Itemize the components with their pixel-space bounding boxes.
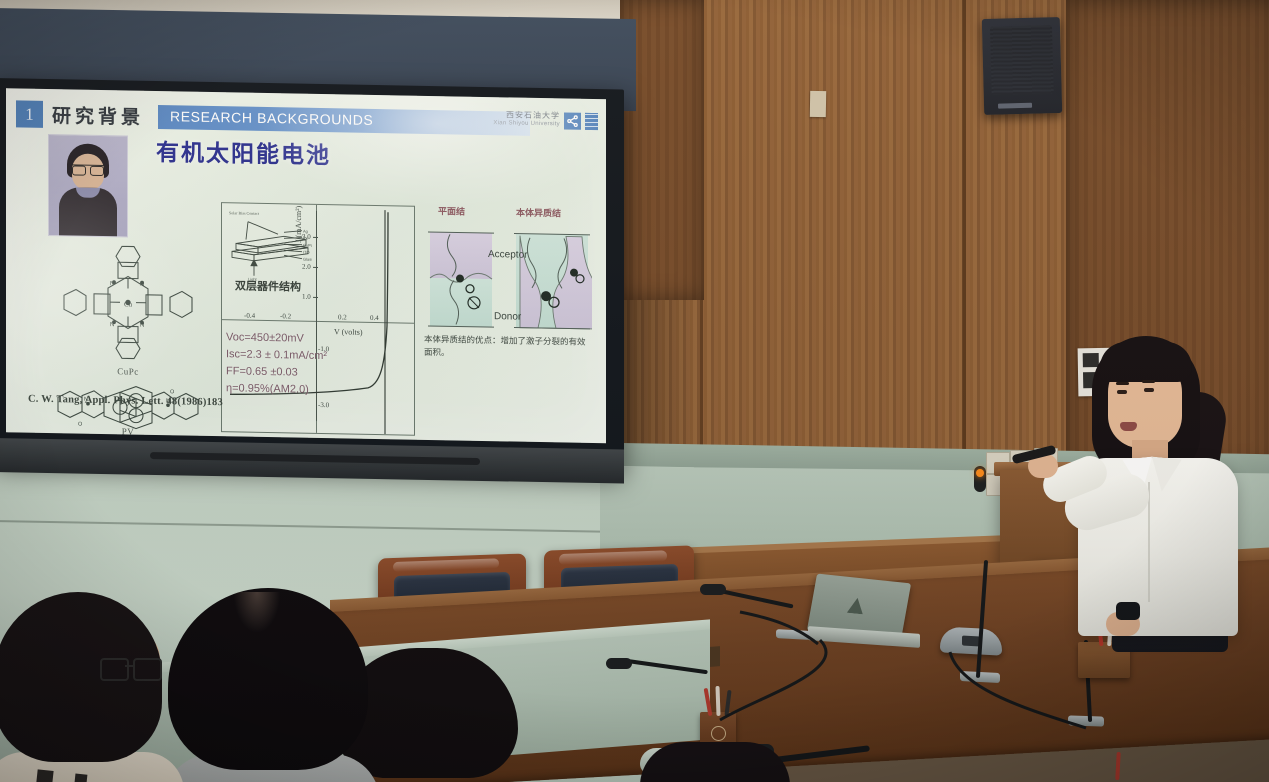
glasses-lens bbox=[133, 658, 162, 681]
presenter-eye bbox=[1144, 388, 1154, 392]
slide-heading: 有机太阳能电池 bbox=[156, 133, 331, 170]
bulk-heterojunction-label: 本体异质结 bbox=[516, 206, 561, 220]
conference-room-scene: 1 研究背景 RESEARCH BACKGROUNDS 西安石油大学 Xian … bbox=[0, 0, 1269, 782]
param-ff: FF=0.65 ±0.03 bbox=[226, 363, 327, 382]
presenter-brow bbox=[1142, 380, 1155, 383]
jv-chart-panel: Solar Bias Contact bbox=[221, 202, 415, 436]
svg-text:N: N bbox=[140, 323, 144, 329]
jv-curve bbox=[222, 203, 414, 435]
researcher-portrait bbox=[48, 134, 128, 237]
presenter-brow bbox=[1116, 382, 1129, 385]
heterojunction-note: 本体异质结的优点：增加了激子分裂的有效面积。 bbox=[424, 334, 592, 363]
audience-hair-part bbox=[234, 592, 280, 632]
university-name-en: Xian Shiyou University bbox=[493, 120, 560, 128]
projection-screen: 1 研究背景 RESEARCH BACKGROUNDS 西安石油大学 Xian … bbox=[0, 78, 624, 472]
param-voc: Voc=450±20mV bbox=[226, 329, 327, 348]
param-isc: Isc=2.3 ± 0.1mA/cm² bbox=[226, 346, 327, 365]
svg-text:N: N bbox=[140, 282, 144, 288]
microphone-head[interactable] bbox=[974, 466, 986, 492]
wall-speaker bbox=[982, 17, 1062, 115]
presentation-slide: 1 研究背景 RESEARCH BACKGROUNDS 西安石油大学 Xian … bbox=[6, 88, 606, 443]
audience-hair bbox=[640, 742, 790, 782]
speaker-grill bbox=[990, 25, 1054, 95]
share-node-icon bbox=[564, 112, 581, 129]
glasses-icon bbox=[100, 658, 158, 678]
speaker-badge bbox=[998, 103, 1032, 109]
presenter-eye bbox=[1117, 390, 1127, 394]
svg-text:Acceptor: Acceptor bbox=[488, 249, 528, 261]
planar-junction-label: 平面结 bbox=[438, 204, 465, 217]
svg-text:Donor: Donor bbox=[494, 311, 522, 323]
svg-text:N: N bbox=[110, 281, 114, 287]
microphone-head[interactable] bbox=[606, 658, 632, 669]
heterojunction-illustration: Acceptor Donor bbox=[424, 222, 592, 353]
param-efficiency: η=0.95%(AM2.0) bbox=[226, 380, 327, 399]
molecule-label-pv: PV bbox=[42, 425, 214, 438]
audience-member bbox=[640, 742, 790, 782]
audience-member bbox=[0, 592, 184, 782]
presenter bbox=[1020, 330, 1269, 630]
glasses-bridge bbox=[125, 665, 133, 667]
presenter-fringe bbox=[1100, 342, 1192, 382]
university-logo-text: 西安石油大学 Xian Shiyou University bbox=[493, 111, 560, 128]
slide-section-title-cn: 研究背景 bbox=[52, 101, 144, 130]
glasses-lens bbox=[100, 658, 129, 681]
audience-member bbox=[168, 588, 378, 782]
svg-text:N: N bbox=[110, 322, 114, 328]
svg-text:O: O bbox=[170, 389, 175, 395]
svg-text:Cu: Cu bbox=[124, 300, 133, 308]
slide-section-number: 1 bbox=[16, 100, 43, 127]
glasses-icon bbox=[72, 164, 104, 174]
logo-bars-icon bbox=[585, 113, 598, 130]
slide-section-title-en: RESEARCH BACKGROUNDS bbox=[170, 108, 373, 128]
wristwatch bbox=[1116, 602, 1140, 620]
slide-section-banner: RESEARCH BACKGROUNDS bbox=[158, 105, 530, 136]
university-logo: 西安石油大学 Xian Shiyou University bbox=[493, 111, 598, 130]
device-parameters: Voc=450±20mV Isc=2.3 ± 0.1mA/cm² FF=0.65… bbox=[226, 329, 327, 399]
presenter-mouth bbox=[1120, 422, 1137, 431]
microphone-head[interactable] bbox=[700, 584, 726, 595]
wall-notice bbox=[810, 91, 826, 117]
